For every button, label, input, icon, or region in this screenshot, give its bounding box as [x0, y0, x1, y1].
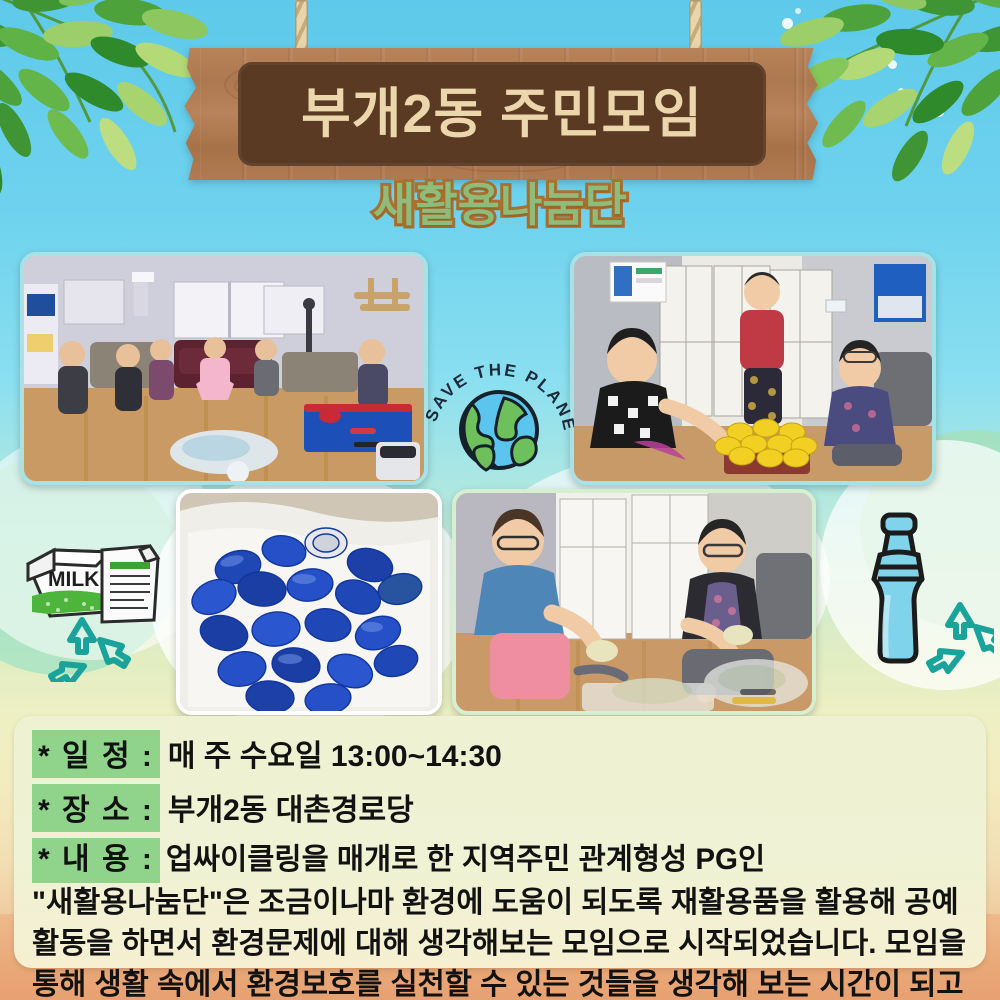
- sign-title-plate: 부개2동 주민모임: [238, 62, 766, 166]
- milk-label: MILK: [48, 568, 99, 591]
- details-panel: * 일 정 : 매 주 수요일 13:00~14:30 * 장 소 : 부개2동…: [14, 716, 986, 968]
- schedule-row: * 일 정 : 매 주 수요일 13:00~14:30: [32, 730, 968, 778]
- page-title: 부개2동 주민모임: [301, 87, 703, 141]
- bubble-dot: [888, 60, 897, 69]
- content-text: 업싸이클링을 매개로 한 지역주민 관계형성 PG인 "새활용나눔단"은 조금이…: [32, 843, 966, 1000]
- content-row: * 내 용 :업싸이클링을 매개로 한 지역주민 관계형성 PG인 "새활용나눔…: [32, 838, 968, 1000]
- page-subtitle: 새활용나눔단: [0, 182, 1000, 228]
- bubble-dot: [934, 107, 944, 117]
- bubble-dot: [782, 18, 793, 29]
- photo-blue-bottle-caps: [176, 489, 442, 715]
- place-value: 부개2동 대촌경로당: [168, 785, 414, 829]
- milk-carton-illustration: MILK: [22, 512, 172, 682]
- save-the-planet-logo: SAVE THE PLANET: [424, 338, 574, 478]
- plastic-bottle-illustration: [866, 505, 994, 685]
- recycle-symbol-icon: [929, 605, 994, 671]
- content-label: * 내 용 :: [32, 838, 160, 883]
- bubble-dot: [795, 8, 801, 14]
- photo-members-with-yellow-crafts: [570, 252, 936, 485]
- earth-globe-icon: [461, 392, 537, 470]
- bubble-dot: [898, 88, 904, 94]
- photo-craft-activity: [452, 489, 816, 715]
- photo-group-meeting-livingroom: [20, 252, 428, 485]
- place-label: * 장 소 :: [32, 784, 160, 832]
- plastic-bottle-icon: [874, 515, 924, 661]
- poster-canvas: 부개2동 주민모임 새활용나눔단: [0, 0, 1000, 1000]
- schedule-value: 매 주 수요일 13:00~14:30: [168, 731, 502, 775]
- recycle-symbol-icon: [51, 620, 128, 682]
- place-row: * 장 소 : 부개2동 대촌경로당: [32, 784, 968, 832]
- milk-carton-icon: MILK: [28, 546, 158, 622]
- schedule-label: * 일 정 :: [32, 730, 160, 778]
